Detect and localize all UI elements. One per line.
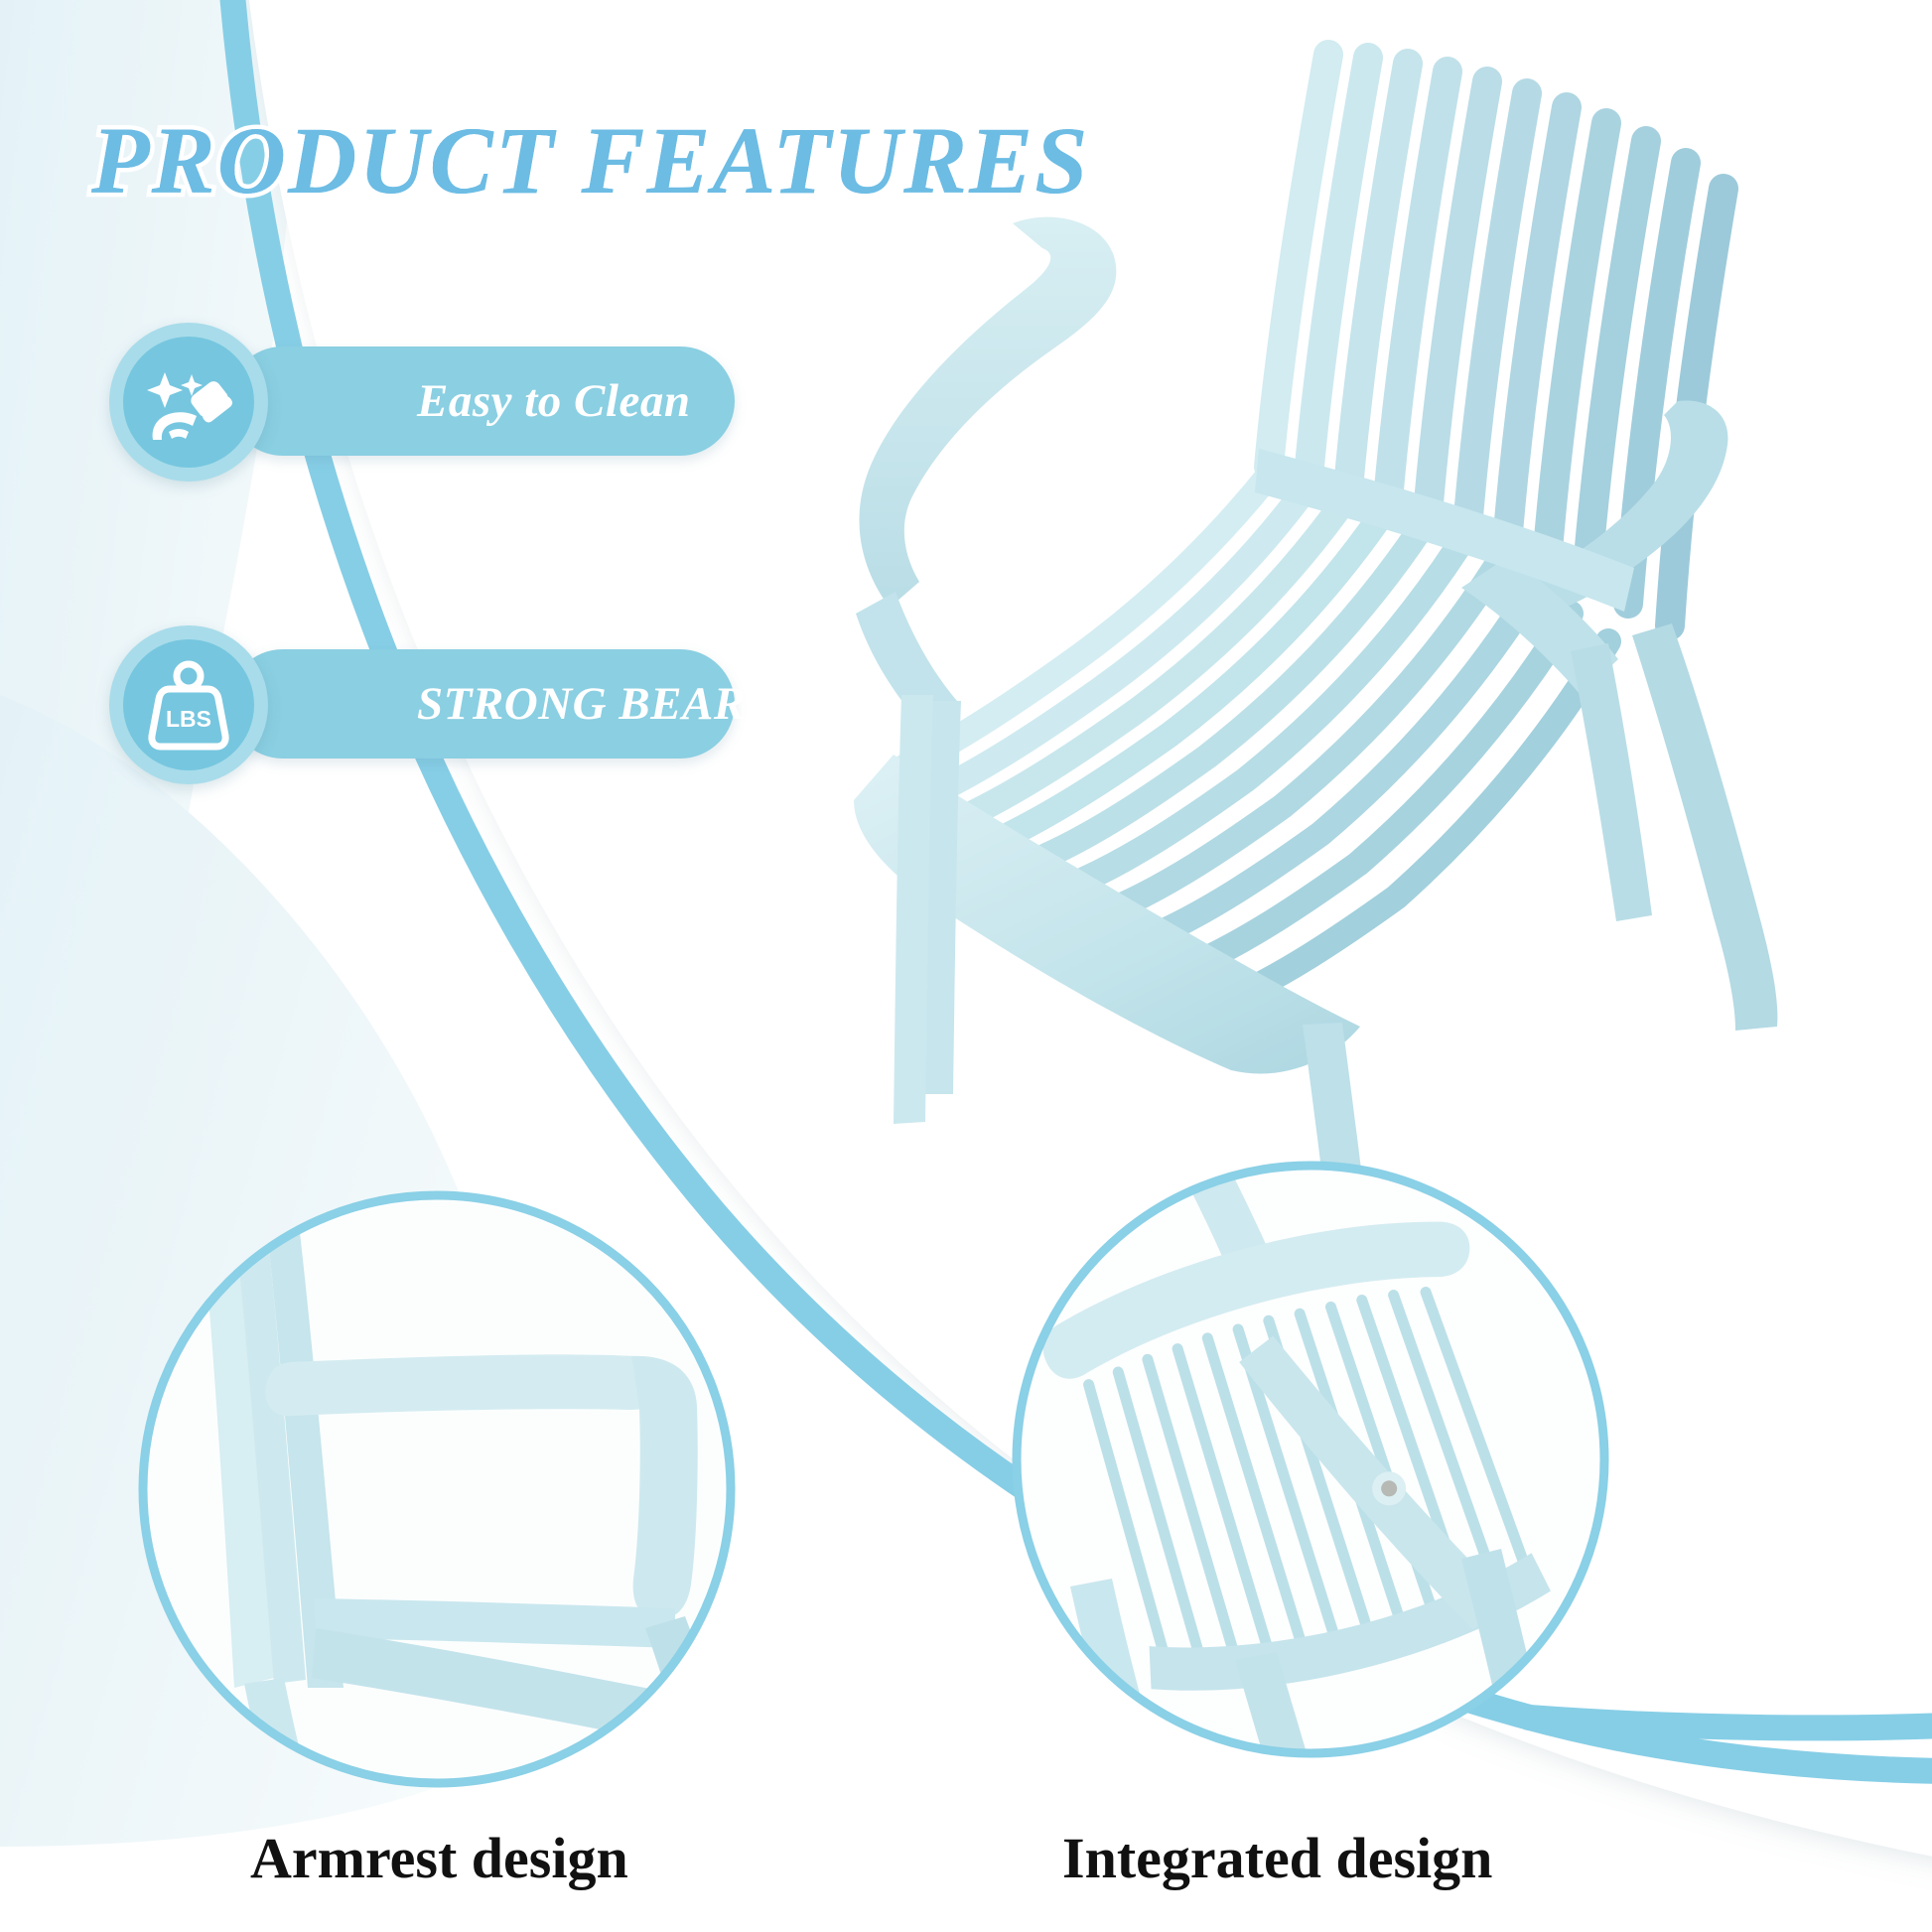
caption-integrated-design: Integrated design (1062, 1825, 1492, 1891)
lbs-weight-icon: LBS (139, 655, 238, 755)
caption-armrest-design: Armrest design (250, 1825, 628, 1891)
feature-icon-badge-strong-bearing: LBS (109, 625, 268, 784)
feature-icon-badge-easy-to-clean (109, 323, 268, 482)
page-title-outline: PRODUCT FEATURES (91, 105, 1090, 215)
feature-pill-strong-bearing: STRONG BEARING (228, 649, 735, 759)
detail-callout-integrated (0, 0, 1932, 1932)
feature-pill-easy-to-clean: Easy to Clean (228, 346, 735, 456)
infographic-canvas: PRODUCT FEATURES PRODUCT FEATURES Easy t… (0, 0, 1932, 1932)
feature-label-easy-to-clean: Easy to Clean (417, 374, 690, 428)
feature-label-strong-bearing: STRONG BEARING (417, 677, 832, 731)
sparkle-hand-clean-icon (141, 354, 236, 450)
lbs-icon-text: LBS (166, 706, 211, 732)
